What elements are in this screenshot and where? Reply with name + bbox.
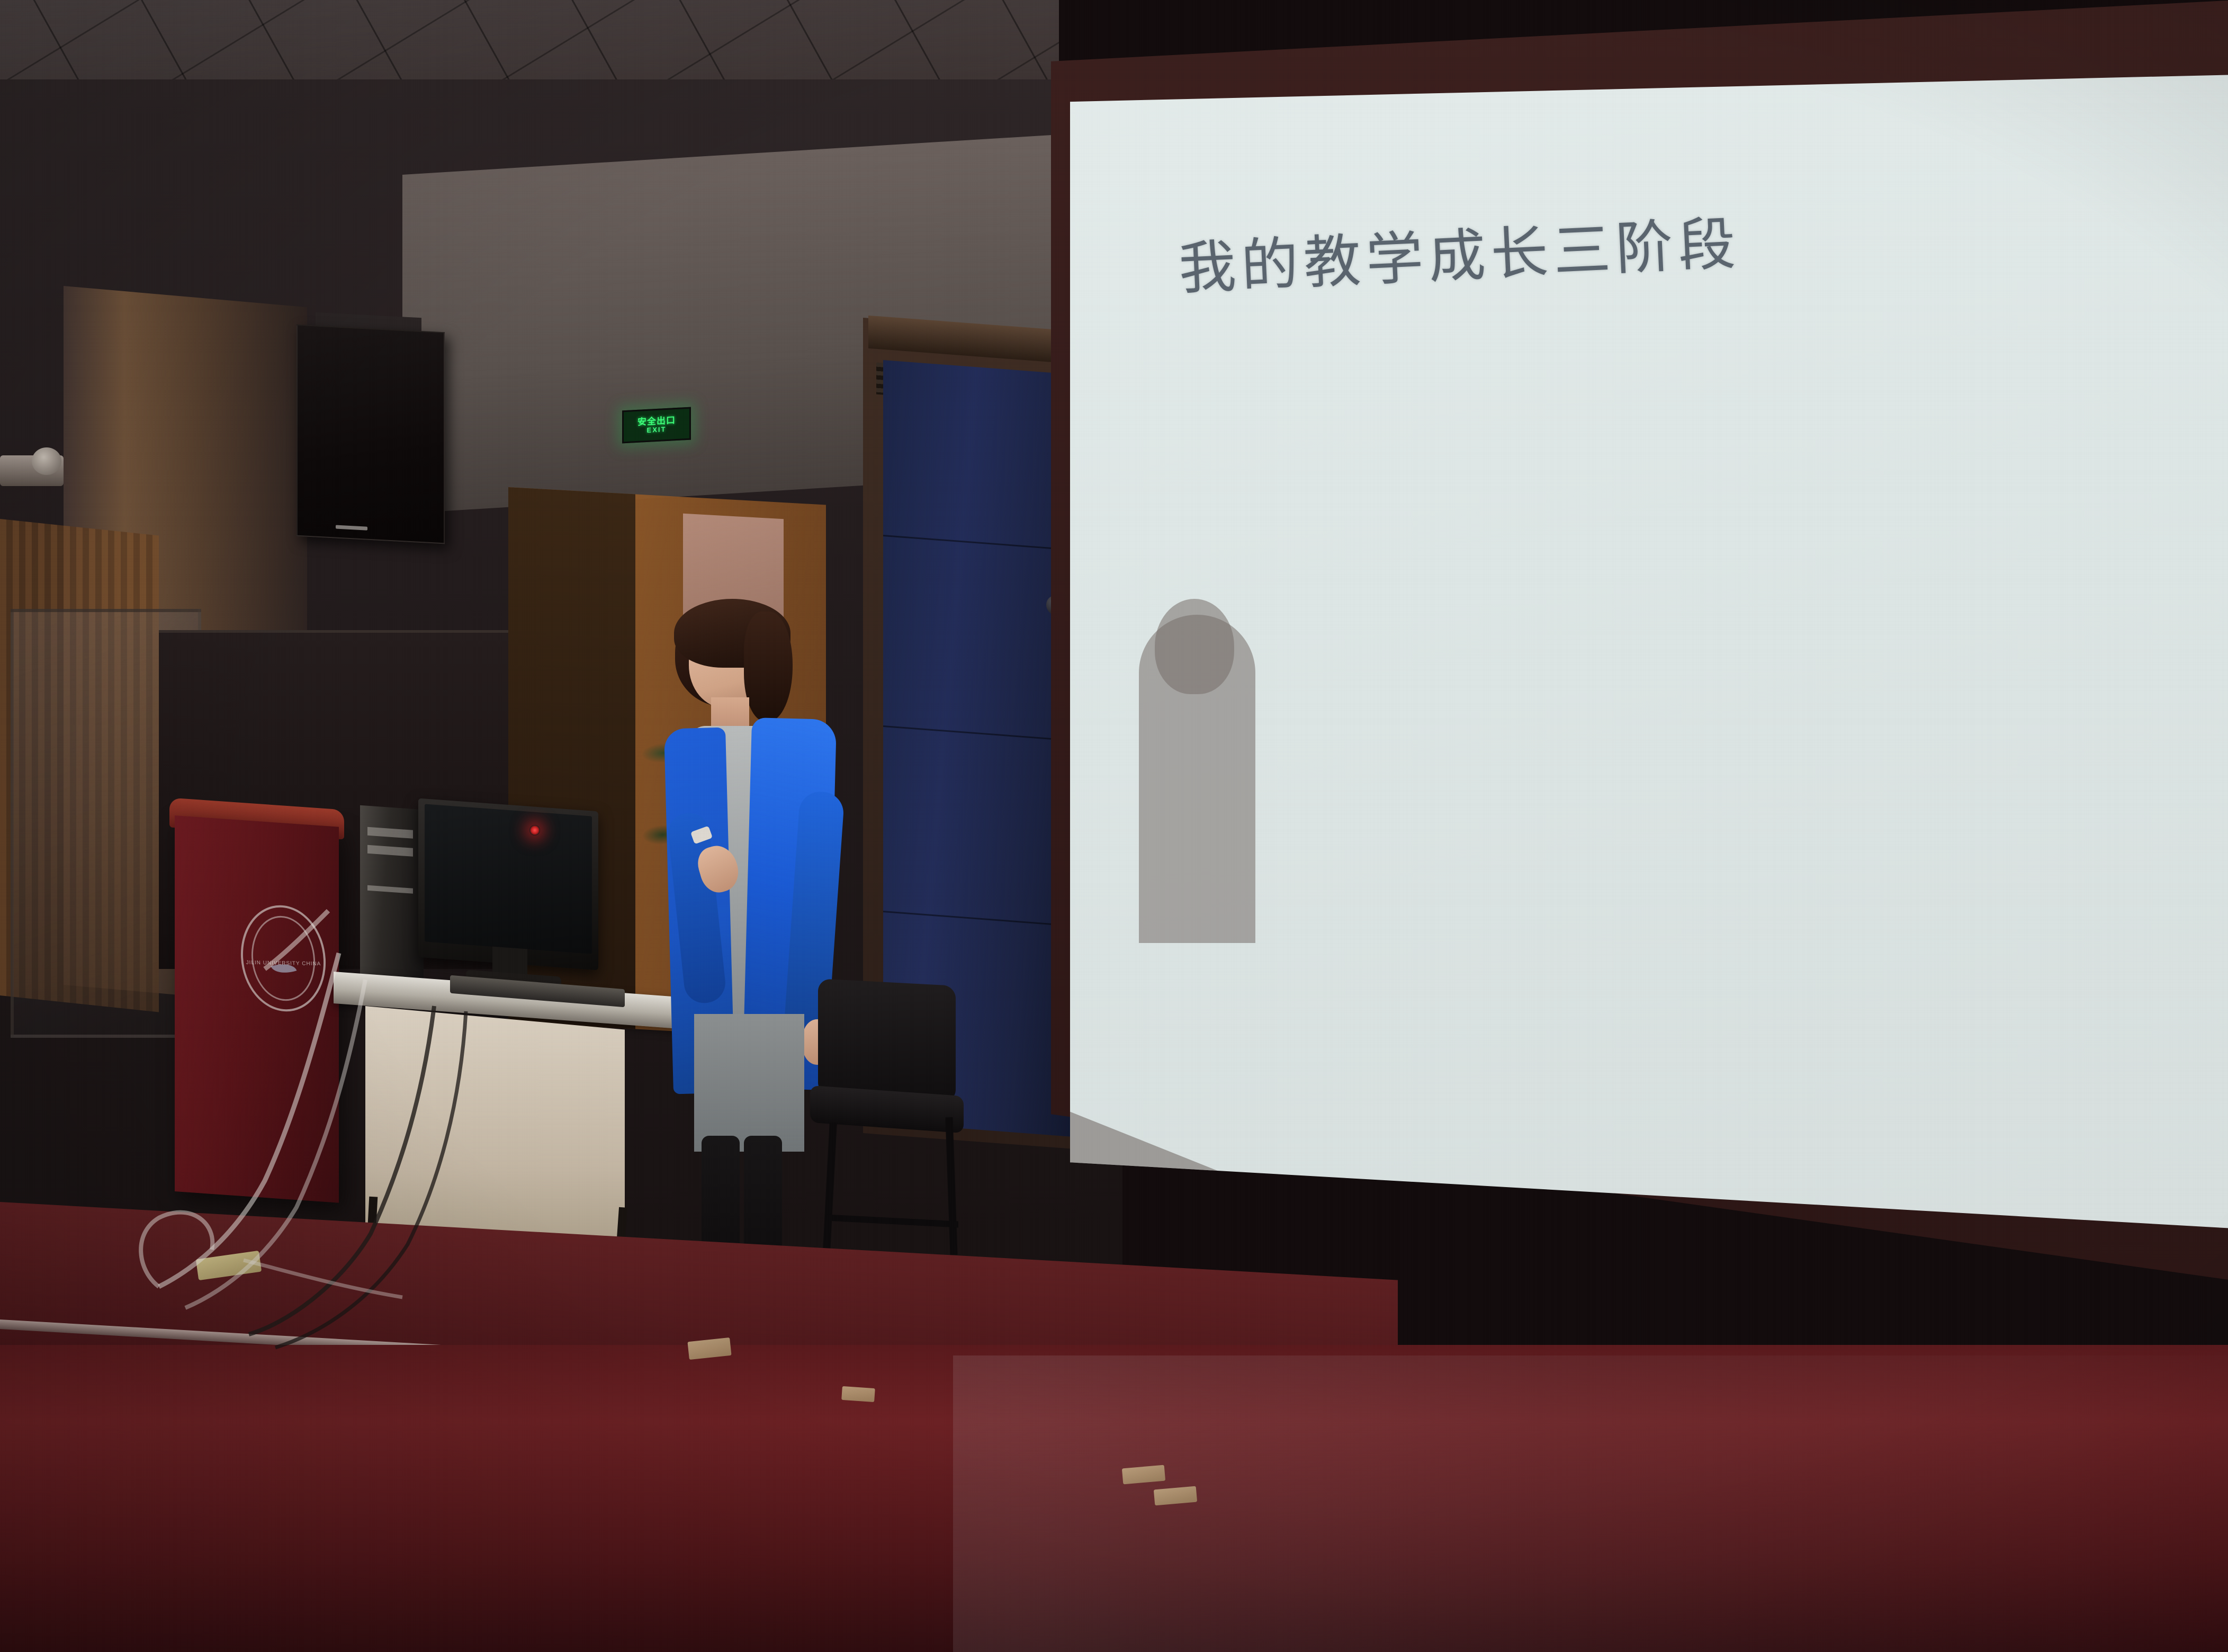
presenter-hair-side	[744, 612, 793, 722]
emblem-label: JILIN UNIVERSITY CHINA	[243, 960, 324, 967]
floor-debris	[841, 1386, 875, 1402]
speaker-badge	[336, 525, 367, 531]
desktop-monitor	[418, 798, 598, 971]
emblem-bird-icon	[271, 959, 297, 977]
presenter-skirt	[694, 1014, 804, 1152]
screen-surface: 我的教学成长三阶段	[1070, 75, 2228, 1302]
exit-sign-english-label: EXIT	[647, 426, 667, 434]
floor-reflection-sheen	[953, 1355, 2228, 1652]
lecture-hall-photo: 安全出口 EXIT 我的教学成长三阶段 JILIN UNIVERSITY CHI…	[0, 0, 2228, 1652]
office-chair-back[interactable]	[818, 978, 956, 1102]
presenter-silhouette-shadow	[1139, 615, 1255, 943]
power-led-indicator	[529, 825, 540, 836]
pc-tower	[360, 805, 424, 984]
projection-screen: 我的教学成长三阶段	[1051, 0, 2228, 1334]
wall-speaker	[297, 325, 445, 544]
monitor-screen	[425, 804, 592, 954]
lectern-podium	[175, 815, 339, 1203]
smoke-detector-icon	[32, 447, 61, 475]
slide-title: 我的教学成长三阶段	[1178, 213, 1742, 301]
exit-sign: 安全出口 EXIT	[622, 407, 691, 444]
